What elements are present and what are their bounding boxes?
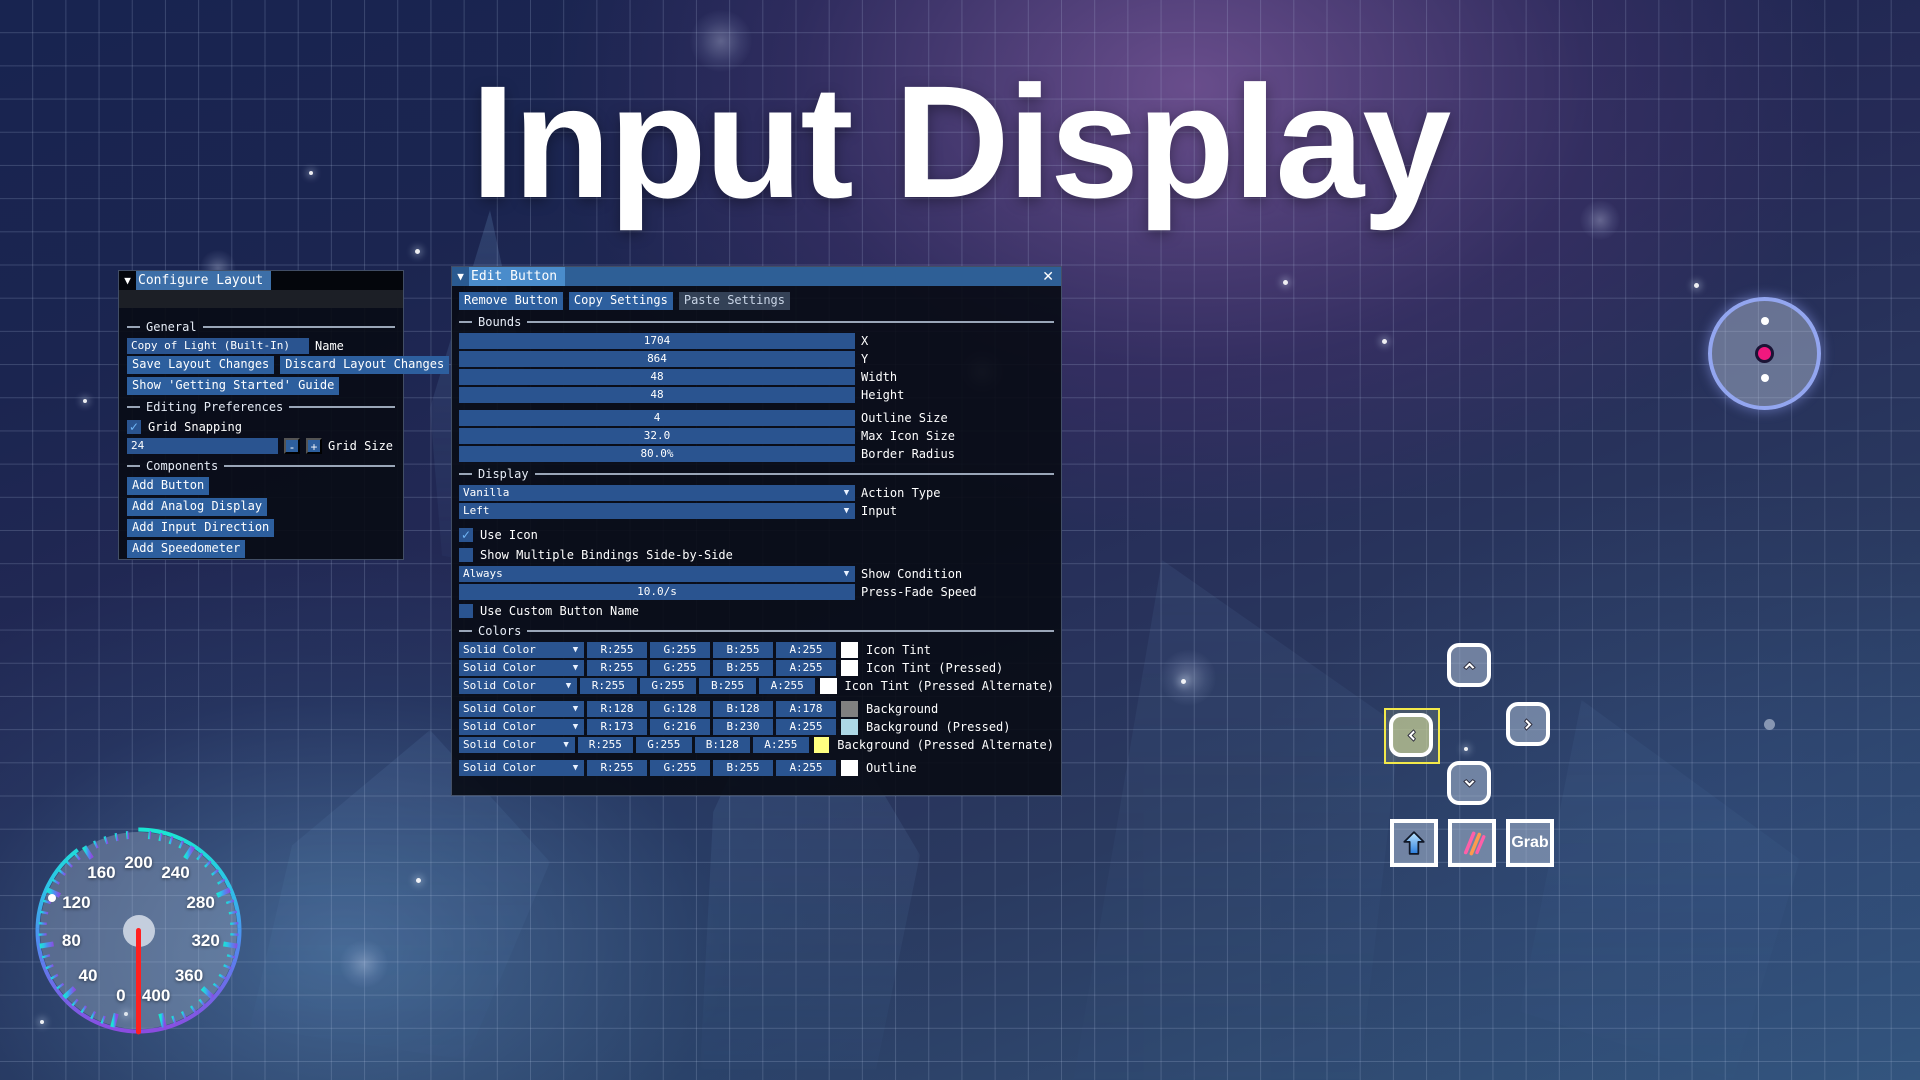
configure-layout-title: Configure Layout: [136, 271, 271, 290]
color-mode-value: Solid Color: [459, 678, 560, 694]
section-display: Display: [459, 467, 1054, 481]
color-mode-select[interactable]: Solid Color▼: [459, 719, 584, 735]
color-red-input[interactable]: R:255: [580, 678, 637, 694]
analog-lower-dot: [1761, 374, 1769, 382]
color-swatch[interactable]: [820, 678, 836, 694]
color-alpha-input[interactable]: A:178: [776, 701, 836, 717]
bounds-height-input[interactable]: 48: [459, 387, 855, 403]
color-alpha-input[interactable]: A:255: [753, 737, 808, 753]
chevron-down-icon[interactable]: ▼: [560, 678, 577, 694]
border-radius-label: Border Radius: [861, 447, 955, 461]
section-editing-preferences: Editing Preferences: [127, 400, 395, 414]
section-general: General: [127, 320, 395, 334]
grab-button[interactable]: Grab: [1506, 819, 1554, 867]
analog-upper-dot: [1761, 317, 1769, 325]
color-alpha-input[interactable]: A:255: [776, 642, 836, 658]
speedometer-widget: 04080120160200240280320360400: [31, 823, 246, 1038]
add-input-direction-button[interactable]: Add Input Direction: [127, 519, 274, 537]
add-input-direction-row: Add Input Direction: [127, 519, 395, 537]
layout-name-label: Name: [315, 339, 344, 353]
speedometer-tick-label: 400: [142, 986, 170, 1006]
color-mode-value: Solid Color: [459, 719, 567, 735]
color-swatch[interactable]: [841, 642, 858, 658]
light-orb: [1160, 650, 1216, 706]
action-type-value: Vanilla: [459, 485, 838, 501]
input-label: Input: [861, 504, 897, 518]
chevron-down-icon[interactable]: ▼: [838, 485, 855, 501]
jump-button[interactable]: [1390, 819, 1438, 867]
speedometer-tick-label: 200: [124, 853, 152, 873]
star: [83, 399, 87, 403]
chevron-down-icon: [1461, 775, 1478, 792]
color-row-label: Outline: [866, 761, 917, 775]
chevron-down-icon[interactable]: ▼: [567, 660, 584, 676]
dash-slashes-icon: [1459, 830, 1486, 857]
use-custom-button-name-checkbox[interactable]: ✓: [459, 604, 473, 618]
chevron-down-icon[interactable]: ▼: [838, 566, 855, 582]
input-select[interactable]: Left ▼: [459, 503, 855, 519]
speedometer-tick-label: 240: [161, 863, 189, 883]
chevron-left-icon: [1403, 727, 1420, 744]
dpad-up[interactable]: [1447, 643, 1491, 687]
star: [1694, 283, 1699, 288]
color-row: Solid Color▼R:255G:255B:128A:255Backgrou…: [459, 737, 1054, 753]
section-dash-icon: [459, 630, 472, 632]
color-row-label: Background: [866, 702, 938, 716]
color-green-input[interactable]: G:128: [650, 701, 710, 717]
section-dash-icon: [459, 473, 472, 475]
custom-name-row[interactable]: ✓ Use Custom Button Name: [459, 602, 1054, 619]
layout-actions-row: Save Layout Changes Discard Layout Chang…: [127, 356, 395, 374]
colors-list: Solid Color▼R:255G:255B:255A:255Icon Tin…: [459, 642, 1054, 776]
speedometer-tick-label: 360: [175, 966, 203, 986]
configure-layout-subbar: [119, 290, 403, 308]
speedometer-tick-label: 0: [116, 986, 125, 1006]
bounds-row: 48 Height: [459, 387, 1054, 403]
action-type-row: Vanilla ▼ Action Type: [459, 485, 1054, 501]
color-row: Solid Color▼R:173G:216B:230A:255Backgrou…: [459, 719, 1054, 735]
edit-button-toolbar: Remove Button Copy Settings Paste Settin…: [459, 292, 1054, 310]
section-display-label: Display: [478, 467, 529, 481]
chevron-down-icon[interactable]: ▼: [567, 719, 584, 735]
color-mode-select[interactable]: Solid Color▼: [459, 737, 575, 753]
bounds-width-label: Width: [861, 370, 897, 384]
speedometer-tick-label: 120: [62, 893, 90, 913]
edit-button-titlebar[interactable]: ▼ Edit Button ✕: [452, 267, 1061, 286]
speedometer-tick-label: 320: [191, 931, 219, 951]
show-condition-row: Always ▼ Show Condition: [459, 566, 1054, 582]
color-mode-value: Solid Color: [459, 660, 567, 676]
color-red-input[interactable]: R:255: [578, 737, 633, 753]
light-orb: [340, 940, 388, 988]
dpad-center-dot: [1764, 719, 1775, 730]
show-condition-value: Always: [459, 566, 838, 582]
color-blue-input[interactable]: B:255: [713, 760, 773, 776]
press-fade-speed-label: Press-Fade Speed: [861, 585, 977, 599]
grid-size-input[interactable]: 24: [127, 438, 278, 454]
speedometer-tick-label: 280: [186, 893, 214, 913]
section-colors-label: Colors: [478, 624, 521, 638]
color-row-label: Background (Pressed Alternate): [837, 738, 1054, 752]
color-mode-select[interactable]: Solid Color▼: [459, 660, 584, 676]
color-alpha-input[interactable]: A:255: [776, 760, 836, 776]
chevron-down-icon[interactable]: ▼: [567, 760, 584, 776]
show-condition-label: Show Condition: [861, 567, 962, 581]
layout-name-input[interactable]: Copy of Light (Built-In): [127, 338, 309, 354]
section-bounds: Bounds: [459, 315, 1054, 329]
color-mode-select[interactable]: Solid Color▼: [459, 760, 584, 776]
color-alpha-input[interactable]: A:255: [776, 719, 836, 735]
bounds-x-input[interactable]: 1704: [459, 333, 855, 349]
analog-stick-position: [1755, 344, 1774, 363]
grid-size-label: Grid Size: [328, 439, 393, 453]
section-rule: [535, 473, 1054, 475]
star: [1181, 679, 1186, 684]
up-arrow-icon: [1401, 830, 1427, 856]
color-mode-value: Solid Color: [459, 760, 567, 776]
grid-snapping-label: Grid Snapping: [148, 420, 242, 434]
star: [1283, 280, 1288, 285]
color-row-label: Icon Tint (Pressed Alternate): [845, 679, 1055, 693]
remove-button-button[interactable]: Remove Button: [459, 292, 563, 310]
color-mode-value: Solid Color: [459, 642, 567, 658]
section-rule: [527, 630, 1054, 632]
use-icon-checkbox[interactable]: ✓: [459, 528, 473, 542]
speedometer-tick-label: 80: [62, 931, 81, 951]
multi-binding-label: Show Multiple Bindings Side-by-Side: [480, 548, 733, 562]
bounds-row: 80.0% Border Radius: [459, 446, 1054, 462]
color-mode-select[interactable]: Solid Color▼: [459, 701, 584, 717]
chevron-right-icon: [1520, 716, 1537, 733]
color-red-input[interactable]: R:255: [587, 760, 647, 776]
section-colors: Colors: [459, 624, 1054, 638]
color-blue-input[interactable]: B:255: [713, 642, 773, 658]
use-custom-button-name-label: Use Custom Button Name: [480, 604, 639, 618]
bounds-height-label: Height: [861, 388, 904, 402]
copy-settings-button[interactable]: Copy Settings: [569, 292, 673, 310]
speedometer-tick-label: 160: [87, 863, 115, 883]
show-getting-started-guide-button[interactable]: Show 'Getting Started' Guide: [127, 377, 339, 395]
collapse-caret-icon[interactable]: ▼: [119, 271, 136, 290]
section-rule: [289, 406, 395, 408]
dash-button[interactable]: [1448, 819, 1496, 867]
chevron-down-icon[interactable]: ▼: [558, 737, 575, 753]
outline-size-input[interactable]: 4: [459, 410, 855, 426]
use-icon-label: Use Icon: [480, 528, 538, 542]
color-mode-value: Solid Color: [459, 737, 558, 753]
bounds-y-label: Y: [861, 352, 868, 366]
max-icon-size-label: Max Icon Size: [861, 429, 955, 443]
section-components: Components: [127, 459, 395, 473]
color-mode-value: Solid Color: [459, 701, 567, 717]
grid-size-decrement-button[interactable]: -: [284, 438, 300, 454]
color-swatch[interactable]: [841, 701, 858, 717]
color-alpha-input[interactable]: A:255: [759, 678, 816, 694]
bounds-row: 32.0 Max Icon Size: [459, 428, 1054, 444]
color-swatch[interactable]: [841, 719, 858, 735]
bounds-row: 864 Y: [459, 351, 1054, 367]
color-red-input[interactable]: R:255: [587, 642, 647, 658]
multi-binding-checkbox[interactable]: ✓: [459, 548, 473, 562]
guide-row: Show 'Getting Started' Guide: [127, 377, 395, 395]
color-green-input[interactable]: G:255: [650, 642, 710, 658]
press-fade-speed-input[interactable]: 10.0/s: [459, 584, 855, 600]
bounds-row: 1704 X: [459, 333, 1054, 349]
star: [1382, 339, 1387, 344]
collapse-caret-icon[interactable]: ▼: [452, 267, 469, 286]
press-fade-row: 10.0/s Press-Fade Speed: [459, 584, 1054, 600]
section-dash-icon: [127, 465, 140, 467]
border-radius-input[interactable]: 80.0%: [459, 446, 855, 462]
color-row: Solid Color▼R:255G:255B:255A:255Outline: [459, 760, 1054, 776]
section-components-label: Components: [146, 459, 218, 473]
save-layout-changes-button[interactable]: Save Layout Changes: [127, 356, 274, 374]
section-dash-icon: [459, 321, 472, 323]
add-speedometer-button[interactable]: Add Speedometer: [127, 540, 245, 558]
section-rule: [224, 465, 395, 467]
action-type-select[interactable]: Vanilla ▼: [459, 485, 855, 501]
add-speedometer-row: Add Speedometer: [127, 540, 395, 558]
speedometer-marker-dot: [48, 894, 56, 902]
action-type-label: Action Type: [861, 486, 940, 500]
bounds-row: 4 Outline Size: [459, 410, 1054, 426]
bounds-y-input[interactable]: 864: [459, 351, 855, 367]
color-blue-input[interactable]: B:230: [713, 719, 773, 735]
bounds-width-input[interactable]: 48: [459, 369, 855, 385]
color-blue-input[interactable]: B:128: [695, 737, 750, 753]
color-green-input[interactable]: G:255: [650, 660, 710, 676]
color-red-input[interactable]: R:128: [587, 701, 647, 717]
color-row: Solid Color▼R:255G:255B:255A:255Icon Tin…: [459, 642, 1054, 658]
use-icon-row[interactable]: ✓ Use Icon: [459, 526, 1054, 543]
color-swatch[interactable]: [814, 737, 830, 753]
grid-snapping-row[interactable]: ✓ Grid Snapping: [127, 418, 395, 435]
edit-button-window[interactable]: ▼ Edit Button ✕ Remove Button Copy Setti…: [451, 266, 1062, 796]
input-row: Left ▼ Input: [459, 503, 1054, 519]
configure-layout-titlebar[interactable]: ▼ Configure Layout: [119, 271, 403, 290]
star: [1464, 747, 1468, 751]
add-analog-display-button[interactable]: Add Analog Display: [127, 498, 267, 516]
color-green-input[interactable]: G:255: [650, 760, 710, 776]
section-bounds-label: Bounds: [478, 315, 521, 329]
discard-layout-changes-button[interactable]: Discard Layout Changes: [280, 356, 449, 374]
show-condition-select[interactable]: Always ▼: [459, 566, 855, 582]
add-button-row: Add Button: [127, 477, 395, 495]
max-icon-size-input[interactable]: 32.0: [459, 428, 855, 444]
section-dash-icon: [127, 406, 140, 408]
star: [415, 249, 420, 254]
section-rule: [203, 326, 395, 328]
star: [416, 878, 421, 883]
color-swatch[interactable]: [841, 660, 858, 676]
configure-layout-window[interactable]: ▼ Configure Layout General Copy of Light…: [118, 270, 404, 560]
color-blue-input[interactable]: B:255: [699, 678, 756, 694]
dpad-right[interactable]: [1506, 702, 1550, 746]
analog-display-widget: [1708, 297, 1821, 410]
color-row: Solid Color▼R:255G:255B:255A:255Icon Tin…: [459, 678, 1054, 694]
color-blue-input[interactable]: B:255: [713, 660, 773, 676]
chevron-up-icon: [1461, 657, 1478, 674]
input-value: Left: [459, 503, 838, 519]
outline-size-label: Outline Size: [861, 411, 948, 425]
color-alpha-input[interactable]: A:255: [776, 660, 836, 676]
color-row-label: Icon Tint (Pressed): [866, 661, 1003, 675]
edit-button-title: Edit Button: [469, 267, 565, 286]
color-mode-select[interactable]: Solid Color▼: [459, 642, 584, 658]
chevron-down-icon[interactable]: ▼: [567, 642, 584, 658]
paste-settings-button[interactable]: Paste Settings: [679, 292, 790, 310]
color-green-input[interactable]: G:255: [636, 737, 691, 753]
bounds-row: 48 Width: [459, 369, 1054, 385]
chevron-down-icon[interactable]: ▼: [838, 503, 855, 519]
dpad-left[interactable]: [1389, 713, 1433, 757]
color-row-label: Background (Pressed): [866, 720, 1011, 734]
color-blue-input[interactable]: B:128: [713, 701, 773, 717]
page-title: Input Display: [0, 62, 1920, 222]
section-general-label: General: [146, 320, 197, 334]
layout-name-row: Copy of Light (Built-In) Name: [127, 338, 395, 354]
multi-binding-row[interactable]: ✓ Show Multiple Bindings Side-by-Side: [459, 546, 1054, 563]
section-editing-preferences-label: Editing Preferences: [146, 400, 283, 414]
section-dash-icon: [127, 326, 140, 328]
speedometer-tick-label: 40: [78, 966, 97, 986]
color-green-input[interactable]: G:216: [650, 719, 710, 735]
color-red-input[interactable]: R:173: [587, 719, 647, 735]
color-mode-select[interactable]: Solid Color▼: [459, 678, 577, 694]
color-green-input[interactable]: G:255: [640, 678, 697, 694]
add-button-button[interactable]: Add Button: [127, 477, 209, 495]
color-swatch[interactable]: [841, 760, 858, 776]
bounds-x-label: X: [861, 334, 868, 348]
color-row: Solid Color▼R:128G:128B:128A:178Backgrou…: [459, 701, 1054, 717]
add-analog-display-row: Add Analog Display: [127, 498, 395, 516]
grid-size-increment-button[interactable]: +: [306, 438, 322, 454]
color-red-input[interactable]: R:255: [587, 660, 647, 676]
chevron-down-icon[interactable]: ▼: [567, 701, 584, 717]
section-rule: [527, 321, 1054, 323]
close-icon[interactable]: ✕: [1042, 267, 1054, 286]
color-row-label: Icon Tint: [866, 643, 931, 657]
grid-size-row: 24 - + Grid Size: [127, 438, 395, 454]
dpad-down[interactable]: [1447, 761, 1491, 805]
grid-snapping-checkbox[interactable]: ✓: [127, 420, 141, 434]
color-row: Solid Color▼R:255G:255B:255A:255Icon Tin…: [459, 660, 1054, 676]
